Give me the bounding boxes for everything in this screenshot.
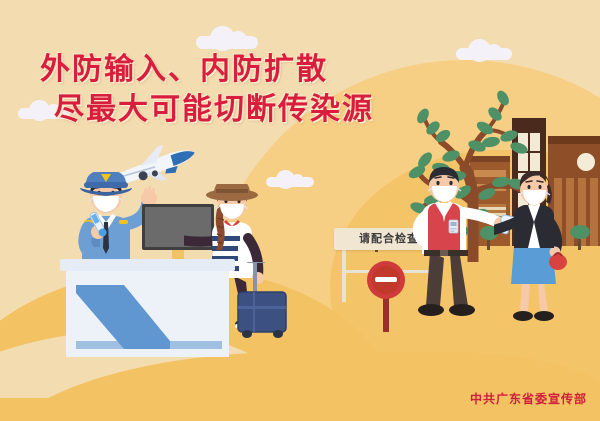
poster-root: 请配合检查 xyxy=(0,0,600,421)
headline-line-1: 外防输入、内防扩散 xyxy=(40,50,440,90)
female-resident xyxy=(494,170,594,330)
check-in-counter xyxy=(60,259,235,357)
publisher-credit: 中共广东省委宣传部 xyxy=(470,390,587,407)
headline-line-2: 尽最大可能切断传染源 xyxy=(40,90,440,130)
no-entry-sign xyxy=(362,258,410,332)
cloud-icon xyxy=(196,36,258,49)
rolling-suitcase xyxy=(232,262,294,340)
page-title: 外防输入、内防扩散 尽最大可能切断传染源 xyxy=(40,50,440,130)
cloud-icon xyxy=(456,48,512,60)
